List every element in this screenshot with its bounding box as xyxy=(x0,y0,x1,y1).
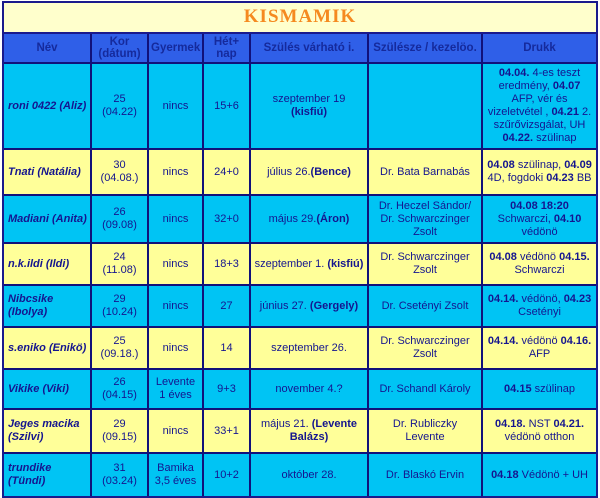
cell-drukk: 04.18. NST 04.21. védönö otthon xyxy=(483,410,596,454)
cell-drukk: 04.04. 4-es teszt eredmény, 04.07 AFP, v… xyxy=(483,64,596,150)
cell-orvos: Dr. Csetényi Zsolt xyxy=(369,286,483,328)
due-date-text: szeptember 1. xyxy=(255,258,328,270)
cell-orvos: Dr. Schwarczinger Zsolt xyxy=(369,328,483,370)
table-body: roni 0422 (Aliz)25 (04.22)nincs15+6szept… xyxy=(4,64,596,496)
column-header-het[interactable]: Hét+ nap xyxy=(204,34,251,64)
cell-drukk: 04.14. védönö 04.16. AFP xyxy=(483,328,596,370)
kismamik-table-container: KISMAMIK Név Kor (dátum) Gyermek Hét+ na… xyxy=(2,1,598,498)
drukk-date: 04.14. xyxy=(488,293,519,305)
cell-drukk: 04.08 18:20 Schwarczi, 04.10 védönö xyxy=(483,196,596,244)
column-header-drukk[interactable]: Drukk xyxy=(483,34,596,64)
column-header-orvos[interactable]: Szülésze / kezelöo. xyxy=(369,34,483,64)
drukk-date: 04.09 xyxy=(564,159,592,171)
baby-name-text: (Áron) xyxy=(316,213,349,225)
drukk-note: Csetényi xyxy=(518,306,561,318)
cell-gyermek: nincs xyxy=(149,150,204,196)
drukk-date: 04.16. xyxy=(561,335,592,347)
baby-name-text: (kisfiú) xyxy=(291,106,327,118)
cell-orvos xyxy=(369,64,483,150)
cell-szules: szeptember 26. xyxy=(251,328,369,370)
drukk-date: 04.08 xyxy=(487,159,515,171)
table-row: Madiani (Anita)26 (09.08)nincs32+0május … xyxy=(4,196,596,244)
table-row: n.k.ildi (Ildi)24 (11.08)nincs18+3szepte… xyxy=(4,244,596,286)
drukk-note: védönö xyxy=(521,226,557,238)
cell-nev: Madiani (Anita) xyxy=(4,196,92,244)
drukk-date: 04.10 xyxy=(554,213,582,225)
drukk-date: 04.15 xyxy=(504,383,532,395)
table-row: Vikike (Viki)26 (04.15)Levente 1 éves9+3… xyxy=(4,370,596,410)
cell-drukk: 04.08 szülinap, 04.09 4D, fogdoki 04.23 … xyxy=(483,150,596,196)
cell-het: 18+3 xyxy=(204,244,251,286)
cell-kor: 25 (09.18.) xyxy=(92,328,149,370)
cell-kor: 29 (09.15) xyxy=(92,410,149,454)
cell-szules: szeptember 19 (kisfiú) xyxy=(251,64,369,150)
cell-gyermek: nincs xyxy=(149,286,204,328)
cell-gyermek: nincs xyxy=(149,410,204,454)
cell-gyermek: nincs xyxy=(149,328,204,370)
cell-het: 33+1 xyxy=(204,410,251,454)
cell-szules: szeptember 1. (kisfiú) xyxy=(251,244,369,286)
cell-orvos: Dr. Bata Barnabás xyxy=(369,150,483,196)
cell-kor: 31 (03.24) xyxy=(92,454,149,496)
table-row: Jeges macika (Szilvi)29 (09.15)nincs33+1… xyxy=(4,410,596,454)
column-header-kor[interactable]: Kor (dátum) xyxy=(92,34,149,64)
table-row: Tnati (Natália)30 (04.08.)nincs24+0júliu… xyxy=(4,150,596,196)
drukk-note: védönö xyxy=(517,251,559,263)
drukk-date: 04.18 xyxy=(491,469,519,481)
due-date-text: június 27. xyxy=(260,300,310,312)
cell-het: 9+3 xyxy=(204,370,251,410)
cell-szules: június 27. (Gergely) xyxy=(251,286,369,328)
cell-szules: május 29.(Áron) xyxy=(251,196,369,244)
drukk-date: 04.21. xyxy=(553,418,584,430)
due-date-text: július 26. xyxy=(267,166,310,178)
drukk-date: 04.07 xyxy=(553,80,581,92)
drukk-note: védönö otthon xyxy=(505,431,575,443)
cell-drukk: 04.15 szülinap xyxy=(483,370,596,410)
column-header-szules[interactable]: Szülés várható i. xyxy=(251,34,369,64)
drukk-date: 04.14. xyxy=(488,335,519,347)
drukk-note: AFP xyxy=(529,348,550,360)
cell-gyermek: nincs xyxy=(149,196,204,244)
cell-nev: Vikike (Viki) xyxy=(4,370,92,410)
page-root: KISMAMIK Név Kor (dátum) Gyermek Hét+ na… xyxy=(0,0,600,439)
cell-orvos: Dr. Schandl Károly xyxy=(369,370,483,410)
cell-kor: 25 (04.22) xyxy=(92,64,149,150)
drukk-note: BB xyxy=(574,172,592,184)
cell-kor: 26 (09.08) xyxy=(92,196,149,244)
cell-nev: n.k.ildi (Ildi) xyxy=(4,244,92,286)
drukk-date: 04.18. xyxy=(495,418,526,430)
title-row: KISMAMIK xyxy=(4,3,596,34)
page-title: KISMAMIK xyxy=(244,6,357,27)
table-row: Nibcsike (Ibolya)29 (10.24)nincs27június… xyxy=(4,286,596,328)
drukk-note: védönö, xyxy=(518,293,563,305)
cell-kor: 24 (11.08) xyxy=(92,244,149,286)
drukk-date: 04.15. xyxy=(559,251,590,263)
drukk-note: szülinap xyxy=(533,132,576,144)
drukk-date: 04.04. xyxy=(499,67,530,79)
cell-nev: s.eniko (Enikö) xyxy=(4,328,92,370)
cell-szules: november 4.? xyxy=(251,370,369,410)
cell-kor: 29 (10.24) xyxy=(92,286,149,328)
drukk-note: szülinap, xyxy=(515,159,565,171)
drukk-date: 04.23 xyxy=(564,293,592,305)
due-date-text: május 29. xyxy=(269,213,317,225)
title-cell: KISMAMIK xyxy=(4,3,596,34)
cell-gyermek: Levente 1 éves xyxy=(149,370,204,410)
baby-name-text: (kisfiú) xyxy=(327,258,363,270)
cell-het: 14 xyxy=(204,328,251,370)
cell-nev: Nibcsike (Ibolya) xyxy=(4,286,92,328)
cell-drukk: 04.14. védönö, 04.23 Csetényi xyxy=(483,286,596,328)
drukk-note: Védönö + UH xyxy=(519,469,588,481)
column-header-nev[interactable]: Név xyxy=(4,34,92,64)
drukk-note: NST xyxy=(526,418,554,430)
table-row: trundike (Tündi)31 (03.24)Bamika 3,5 éve… xyxy=(4,454,596,496)
cell-orvos: Dr. Schwarczinger Zsolt xyxy=(369,244,483,286)
cell-orvos: Dr. Blaskó Ervin xyxy=(369,454,483,496)
drukk-note: Schwarczi, xyxy=(498,213,554,225)
cell-het: 24+0 xyxy=(204,150,251,196)
cell-kor: 26 (04.15) xyxy=(92,370,149,410)
cell-nev: Jeges macika (Szilvi) xyxy=(4,410,92,454)
cell-drukk: 04.18 Védönö + UH xyxy=(483,454,596,496)
drukk-note: Schwarczi xyxy=(514,264,564,276)
cell-het: 10+2 xyxy=(204,454,251,496)
cell-szules: október 28. xyxy=(251,454,369,496)
drukk-note: védönö xyxy=(518,335,560,347)
cell-nev: roni 0422 (Aliz) xyxy=(4,64,92,150)
due-date-text: szeptember 19 xyxy=(273,93,346,105)
baby-name-text: (Bence) xyxy=(311,166,351,178)
cell-drukk: 04.08 védönö 04.15. Schwarczi xyxy=(483,244,596,286)
cell-orvos: Dr. Heczel Sándor/ Dr. Schwarczinger Zso… xyxy=(369,196,483,244)
drukk-note: 4D, fogdoki xyxy=(488,172,547,184)
drukk-date: 04.22. xyxy=(503,132,534,144)
cell-nev: Tnati (Natália) xyxy=(4,150,92,196)
kismamik-table: KISMAMIK Név Kor (dátum) Gyermek Hét+ na… xyxy=(4,3,596,496)
baby-name-text: (Gergely) xyxy=(310,300,358,312)
cell-orvos: Dr. Rubliczky Levente xyxy=(369,410,483,454)
cell-szules: május 21. (Levente Balázs) xyxy=(251,410,369,454)
cell-het: 27 xyxy=(204,286,251,328)
header-row: Név Kor (dátum) Gyermek Hét+ nap Szülés … xyxy=(4,34,596,64)
cell-szules: július 26.(Bence) xyxy=(251,150,369,196)
cell-het: 32+0 xyxy=(204,196,251,244)
table-row: roni 0422 (Aliz)25 (04.22)nincs15+6szept… xyxy=(4,64,596,150)
cell-gyermek: nincs xyxy=(149,244,204,286)
cell-kor: 30 (04.08.) xyxy=(92,150,149,196)
drukk-date: 04.23 xyxy=(546,172,574,184)
drukk-date: 04.08 18:20 xyxy=(510,200,569,212)
drukk-date: 04.08 xyxy=(489,251,517,263)
cell-het: 15+6 xyxy=(204,64,251,150)
drukk-date: 04.21 xyxy=(551,106,579,118)
cell-gyermek: nincs xyxy=(149,64,204,150)
cell-gyermek: Bamika 3,5 éves xyxy=(149,454,204,496)
cell-nev: trundike (Tündi) xyxy=(4,454,92,496)
column-header-gyermek[interactable]: Gyermek xyxy=(149,34,204,64)
due-date-text: május 21. xyxy=(261,418,312,430)
table-row: s.eniko (Enikö)25 (09.18.)nincs14szeptem… xyxy=(4,328,596,370)
drukk-note: szülinap xyxy=(532,383,575,395)
